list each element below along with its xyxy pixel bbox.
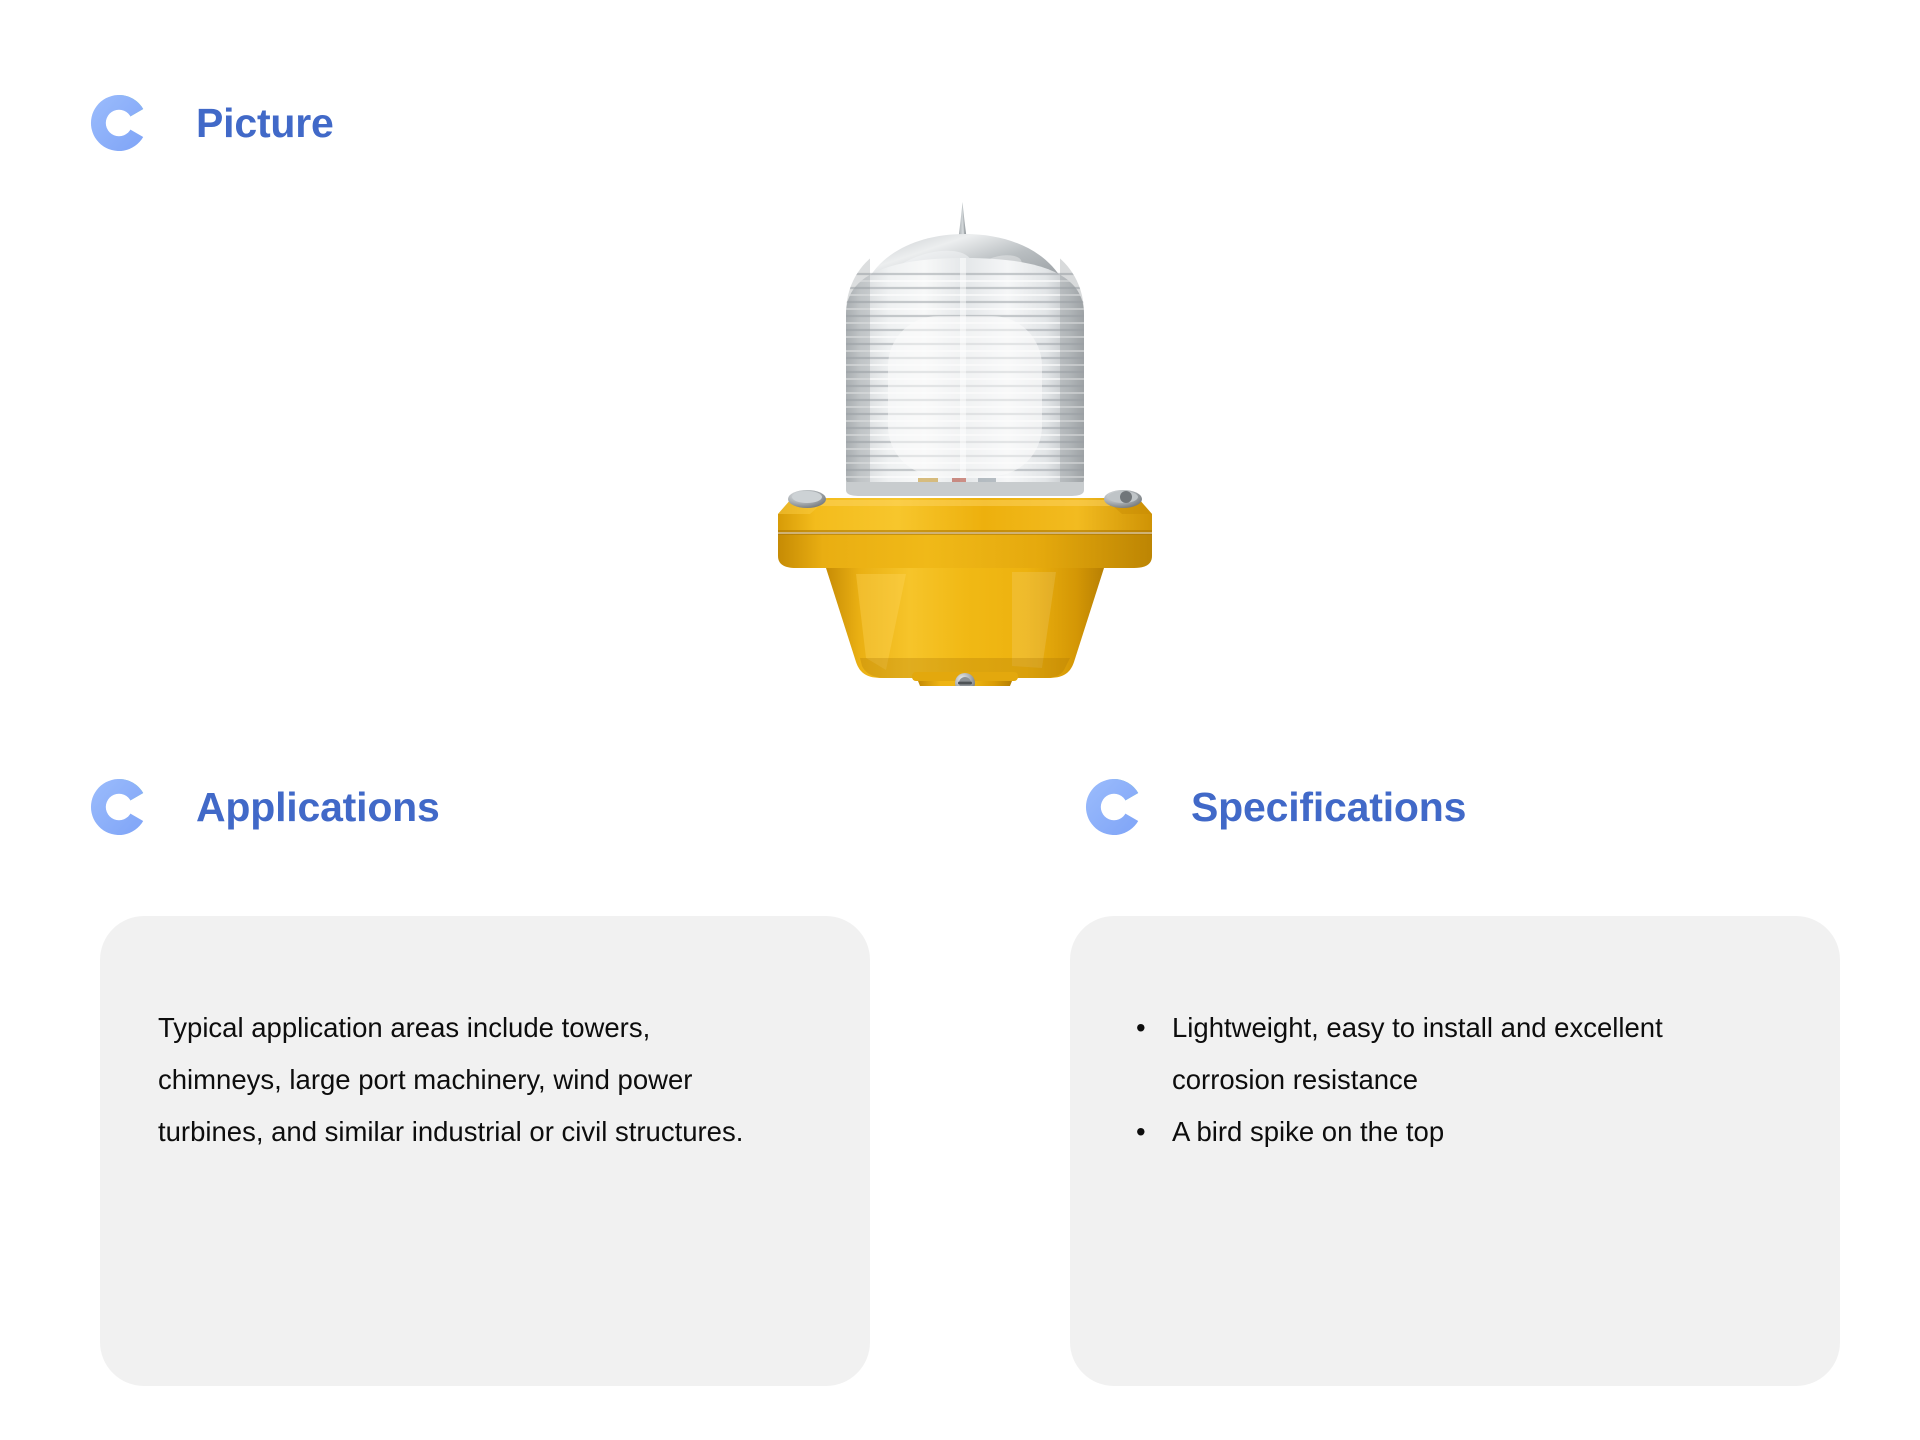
- section-header-picture: Picture: [88, 92, 334, 154]
- section-header-applications: Applications: [88, 776, 440, 838]
- section-header-specifications: Specifications: [1083, 776, 1466, 838]
- specification-bullet-text: Lightweight, easy to install and excelle…: [1172, 1012, 1663, 1095]
- product-image: [660, 196, 1270, 686]
- specification-bullet-item: •Lightweight, easy to install and excell…: [1128, 1002, 1782, 1106]
- specifications-bullet-list: •Lightweight, easy to install and excell…: [1128, 1002, 1782, 1158]
- brand-c-logo-icon: [1083, 776, 1145, 838]
- specification-bullet-text: A bird spike on the top: [1172, 1116, 1444, 1147]
- specification-bullet-item: •A bird spike on the top: [1128, 1106, 1782, 1158]
- section-title-applications: Applications: [196, 787, 440, 828]
- specifications-card: •Lightweight, easy to install and excell…: [1070, 916, 1840, 1386]
- bullet-point-icon: •: [1136, 1002, 1146, 1054]
- brand-c-logo-icon: [88, 92, 150, 154]
- section-title-specifications: Specifications: [1191, 787, 1466, 828]
- applications-body-text: Typical application areas include towers…: [158, 1002, 778, 1158]
- spec-sheet-page: Picture: [0, 0, 1920, 1440]
- applications-card: Typical application areas include towers…: [100, 916, 870, 1386]
- bullet-point-icon: •: [1136, 1106, 1146, 1158]
- brand-c-logo-icon: [88, 776, 150, 838]
- section-title-picture: Picture: [196, 103, 334, 144]
- specifications-body: •Lightweight, easy to install and excell…: [1128, 1002, 1782, 1158]
